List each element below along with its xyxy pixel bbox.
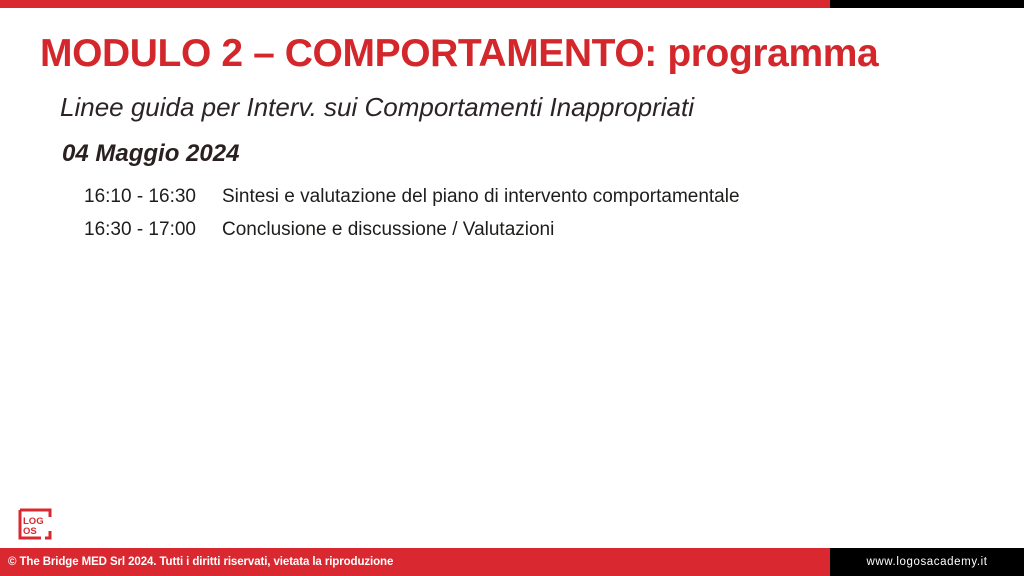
top-accent-bar-red: [0, 0, 830, 8]
schedule-row: 16:10 - 16:30 Sintesi e valutazione del …: [84, 186, 964, 208]
top-accent-bar-black: [830, 0, 1024, 8]
top-accent-bar: [0, 0, 1024, 8]
logos-logo-icon: LOG OS: [17, 507, 53, 541]
logos-logo: LOG OS: [17, 507, 53, 541]
page-subtitle: Linee guida per Interv. sui Comportament…: [60, 92, 694, 123]
footer-bar: © The Bridge MED Srl 2024. Tutti i dirit…: [0, 548, 1024, 576]
footer-website-area: www.logosacademy.it: [830, 548, 1024, 576]
schedule-description: Conclusione e discussione / Valutazioni: [222, 219, 554, 241]
slide: MODULO 2 – COMPORTAMENTO: programma Line…: [0, 0, 1024, 576]
schedule-list: 16:10 - 16:30 Sintesi e valutazione del …: [84, 186, 964, 252]
schedule-time: 16:10 - 16:30: [84, 186, 222, 208]
footer-website[interactable]: www.logosacademy.it: [866, 556, 987, 568]
page-title: MODULO 2 – COMPORTAMENTO: programma: [40, 32, 878, 77]
session-date: 04 Maggio 2024: [62, 140, 239, 169]
footer-copyright: © The Bridge MED Srl 2024. Tutti i dirit…: [0, 556, 393, 568]
footer-copyright-area: © The Bridge MED Srl 2024. Tutti i dirit…: [0, 548, 830, 576]
schedule-row: 16:30 - 17:00 Conclusione e discussione …: [84, 219, 964, 241]
logos-logo-line2: OS: [23, 526, 37, 537]
schedule-time: 16:30 - 17:00: [84, 219, 222, 241]
schedule-description: Sintesi e valutazione del piano di inter…: [222, 186, 740, 208]
